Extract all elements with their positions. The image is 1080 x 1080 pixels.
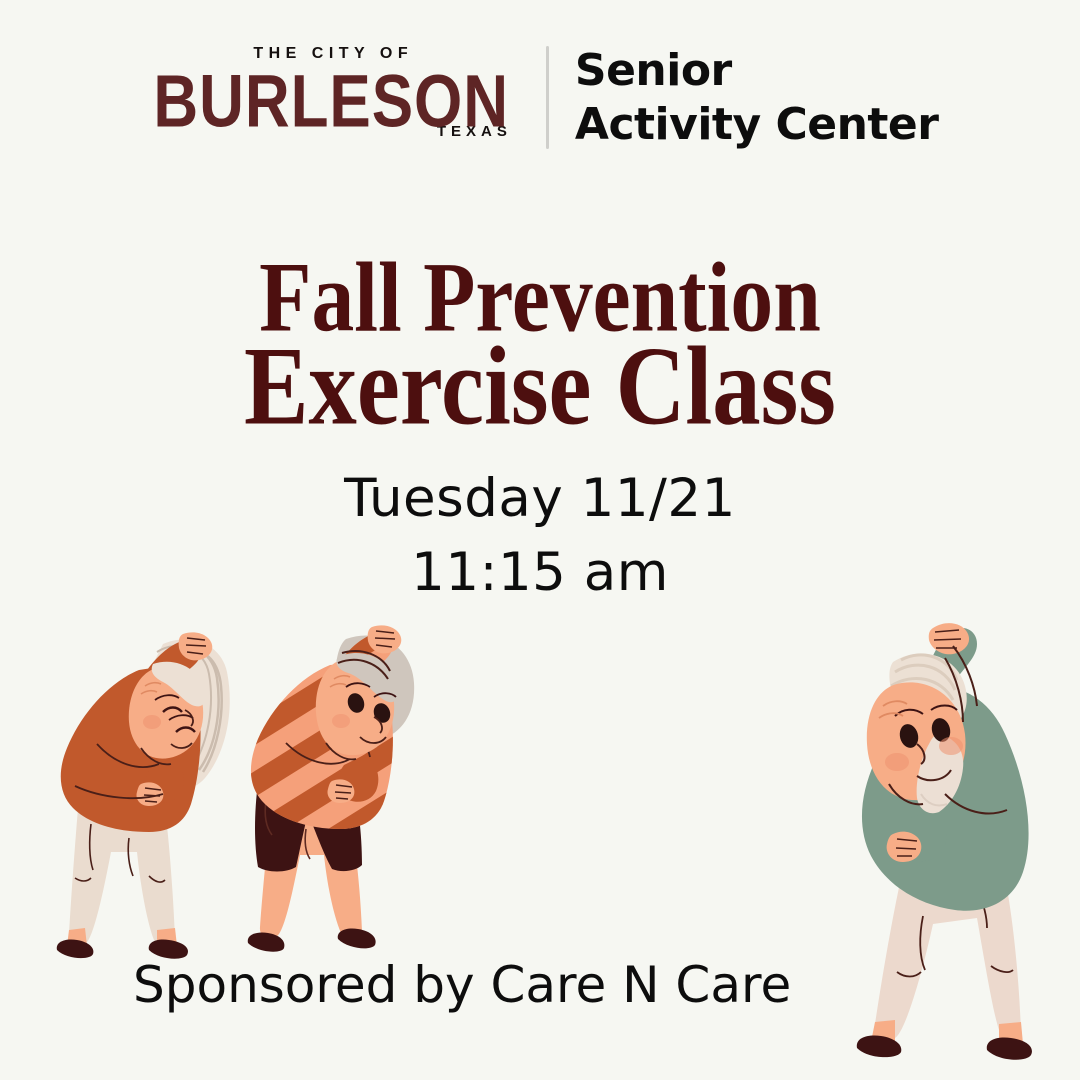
poster-canvas: THE CITY OF BURLESON TEXAS Senior Activi… xyxy=(0,0,1080,1080)
title-line-2: Exercise Class xyxy=(38,333,1042,441)
department-name: Senior Activity Center xyxy=(575,42,939,151)
event-schedule: Tuesday 11/21 11:15 am xyxy=(0,462,1080,610)
brand-lockup: THE CITY OF BURLESON TEXAS Senior Activi… xyxy=(142,42,939,151)
event-date: Tuesday 11/21 xyxy=(0,462,1080,536)
city-name-text: BURLESON xyxy=(153,67,509,135)
city-name-wordmark: BURLESON xyxy=(142,67,520,128)
illustration-figure-middle xyxy=(238,605,443,970)
department-line-2: Activity Center xyxy=(575,98,939,152)
city-of-burleson-logo: THE CITY OF BURLESON TEXAS xyxy=(142,42,520,151)
illustration-figure-right xyxy=(805,598,1080,1080)
department-line-1: Senior xyxy=(575,44,939,98)
lockup-divider-rule xyxy=(546,46,549,149)
header-logo-lockup: THE CITY OF BURLESON TEXAS Senior Activi… xyxy=(0,42,1080,151)
poster-title: Fall Prevention Exercise Class xyxy=(0,253,1080,437)
